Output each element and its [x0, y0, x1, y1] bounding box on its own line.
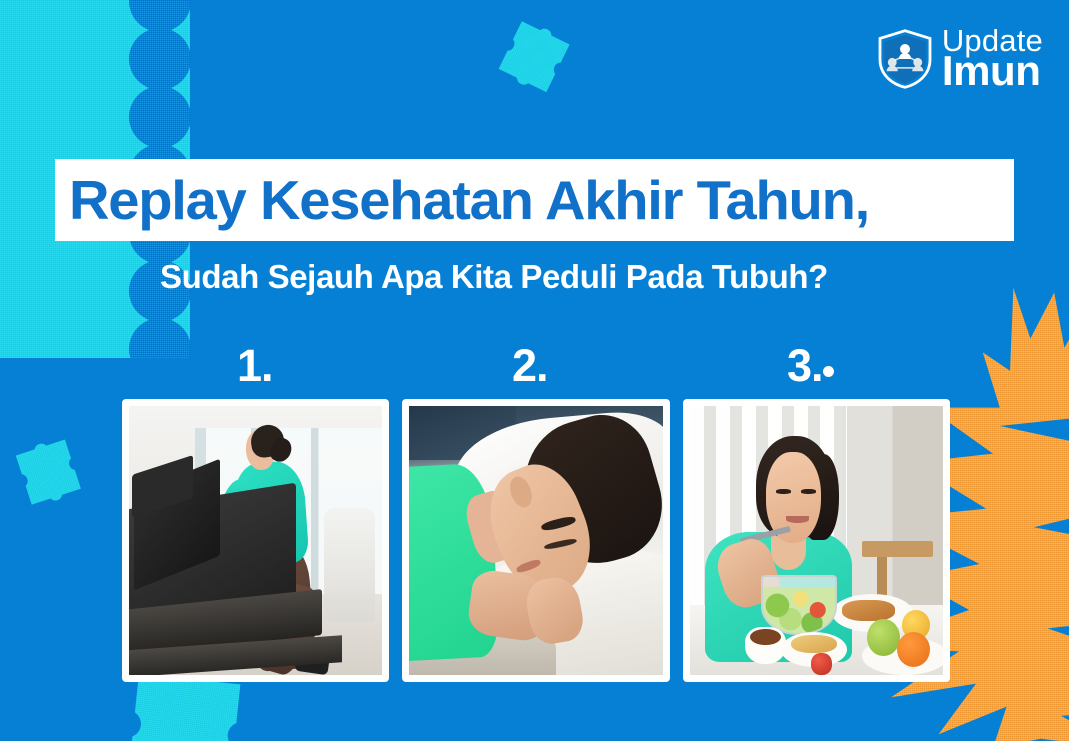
- step-number-2: 2.: [512, 340, 548, 392]
- step-number-row: 1. 2. 3.: [124, 340, 944, 396]
- photo-frame-3: [683, 399, 950, 682]
- page-subtitle: Sudah Sejauh Apa Kita Peduli Pada Tubuh?: [160, 258, 828, 296]
- photo-row: [122, 399, 950, 682]
- photo-treadmill: [129, 406, 382, 675]
- photo-frame-2: [402, 399, 669, 682]
- brand-name-line2: Imun: [942, 52, 1043, 91]
- photo-frame-1: [122, 399, 389, 682]
- poster-canvas: Update Imun Replay Kesehatan Akhir Tahun…: [0, 0, 1069, 741]
- step-number-3: 3.: [787, 340, 823, 392]
- puzzle-piece-icon: [485, 13, 589, 117]
- step-number-1: 1.: [237, 340, 273, 392]
- puzzle-piece-icon: [8, 428, 104, 524]
- brand-logo: Update Imun: [877, 27, 1043, 90]
- shield-people-icon: [877, 29, 933, 89]
- photo-salad: [690, 406, 943, 675]
- brand-wordmark: Update Imun: [942, 27, 1043, 90]
- title-band: Replay Kesehatan Akhir Tahun,: [55, 159, 1014, 241]
- page-title: Replay Kesehatan Akhir Tahun,: [69, 168, 869, 232]
- photo-sleeping: [409, 406, 662, 675]
